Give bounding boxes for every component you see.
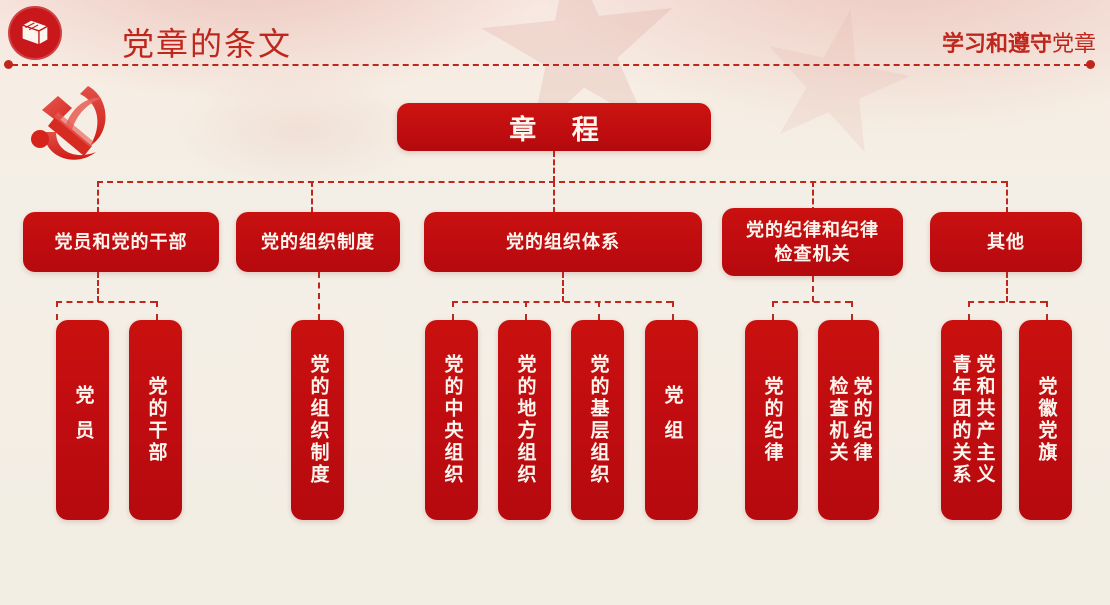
chapter-label-light: 党章 [1052, 31, 1096, 56]
diagram-leaf-discipline-inspection-organ[interactable]: 党的纪律 检查机关 [818, 320, 879, 520]
connector-drop-g3-2 [525, 301, 527, 320]
connector-drop-g3-3 [598, 301, 600, 320]
node-label: 党的中央组织 [440, 354, 464, 486]
connector-drop-lvl2-3 [553, 181, 555, 213]
connector-drop-g5-2 [1046, 301, 1048, 320]
party-emblem-hammer-sickle [14, 74, 132, 186]
diagram-leaf-relation-with-youth-league[interactable]: 党和共产主义 青年团的关系 [941, 320, 1002, 520]
star-watermark-secondary-icon [746, 0, 924, 172]
diagram-leaf-org-system[interactable]: 党的组织制度 [291, 320, 344, 520]
node-label: 党员 [71, 385, 95, 455]
divider-dot-left [4, 60, 13, 69]
node-label: 党和共产主义 青年团的关系 [948, 354, 996, 486]
node-label: 其他 [987, 230, 1025, 254]
connector-drop-lvl2-1 [97, 181, 99, 213]
divider-dot-right [1086, 60, 1095, 69]
connector-drop-lvl2-5 [1006, 181, 1008, 213]
chapter-label: 学习和遵守党章 [942, 26, 1096, 58]
header-divider [12, 64, 1090, 66]
connector-drop-g3-1 [452, 301, 454, 320]
connector-drop-g3-4 [672, 301, 674, 320]
connector-level2-bus [97, 181, 1007, 183]
connector-drop-g4-2 [851, 301, 853, 320]
page-title: 党章的条文 [122, 19, 292, 65]
diagram-leaf-grassroots-org[interactable]: 党的基层组织 [571, 320, 624, 520]
diagram-leaf-party-cadre[interactable]: 党的干部 [129, 320, 182, 520]
connector-stem-g2 [318, 272, 320, 320]
node-label: 党员和党的干部 [55, 230, 188, 254]
node-label: 党的纪律 检查机关 [825, 376, 873, 464]
diagram-node-lvl2-other[interactable]: 其他 [930, 212, 1082, 272]
connector-stem-g3 [562, 272, 564, 302]
connector-bus-g5 [968, 301, 1046, 303]
connector-drop-lvl2-2 [311, 181, 313, 213]
connector-drop-g1-2 [156, 301, 158, 320]
diagram-leaf-party-member[interactable]: 党员 [56, 320, 109, 520]
node-label: 党的组织制度 [261, 230, 375, 254]
diagram-leaf-emblem-flag[interactable]: 党徽党旗 [1019, 320, 1072, 520]
node-label: 党的纪律和纪律 检查机关 [746, 218, 879, 267]
connector-stem-g1 [97, 272, 99, 302]
diagram-node-lvl2-org-system[interactable]: 党的组织制度 [236, 212, 400, 272]
connector-drop-g1-1 [56, 301, 58, 320]
connector-root-stem [553, 151, 555, 182]
node-label: 党的组织体系 [506, 230, 620, 254]
node-label: 党的基层组织 [586, 354, 610, 486]
node-label: 党徽党旗 [1034, 376, 1058, 464]
connector-drop-g5-1 [968, 301, 970, 320]
connector-drop-g4-1 [772, 301, 774, 320]
node-label: 章 程 [495, 108, 613, 147]
diagram-leaf-central-org[interactable]: 党的中央组织 [425, 320, 478, 520]
diagram-node-lvl2-discipline-org[interactable]: 党的纪律和纪律 检查机关 [722, 208, 903, 276]
chapter-label-strong: 学习和遵守 [942, 31, 1052, 56]
diagram-node-root[interactable]: 章 程 [397, 103, 711, 151]
diagram-node-lvl2-members-cadres[interactable]: 党员和党的干部 [23, 212, 219, 272]
connector-bus-g4 [772, 301, 851, 303]
diagram-leaf-local-org[interactable]: 党的地方组织 [498, 320, 551, 520]
diagram-leaf-party-group[interactable]: 党组 [645, 320, 698, 520]
node-label: 党的干部 [144, 376, 168, 464]
book-icon [8, 6, 62, 60]
diagram-leaf-party-discipline[interactable]: 党的纪律 [745, 320, 798, 520]
node-label: 党的组织制度 [306, 354, 330, 486]
connector-stem-g5 [1006, 272, 1008, 302]
slide-canvas: 党章的条文 学习和遵守党章 [0, 0, 1110, 605]
connector-stem-g4 [812, 276, 814, 302]
node-label: 党的地方组织 [513, 354, 537, 486]
node-label: 党的纪律 [760, 376, 784, 464]
diagram-node-lvl2-org-structure[interactable]: 党的组织体系 [424, 212, 702, 272]
background-blob [170, 70, 430, 190]
node-label: 党组 [660, 385, 684, 455]
connector-bus-g3 [452, 301, 672, 303]
connector-bus-g1 [56, 301, 156, 303]
